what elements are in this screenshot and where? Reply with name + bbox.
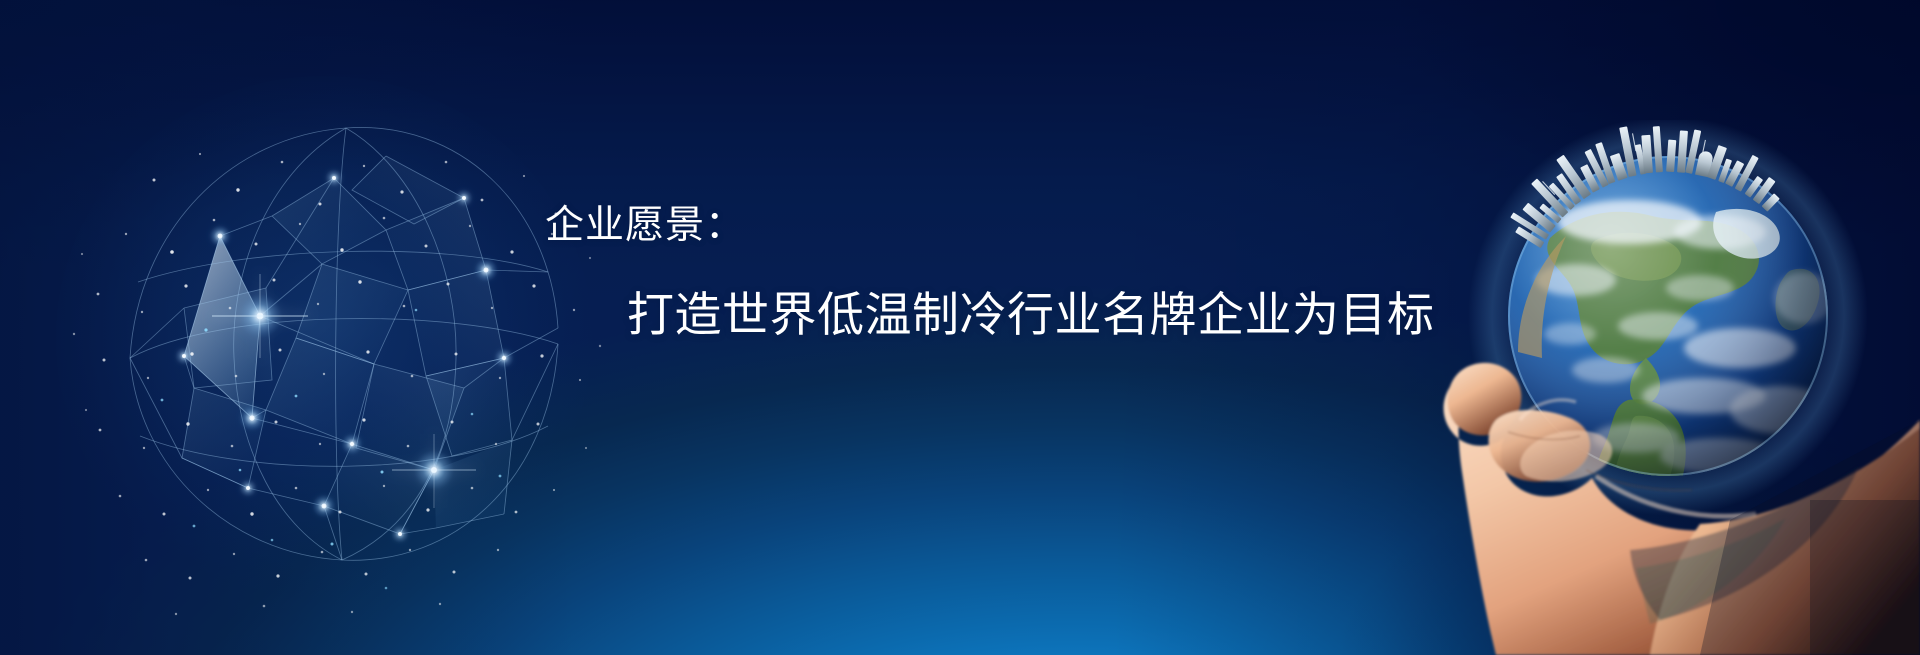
background-corner-vignette xyxy=(0,0,1920,655)
vision-banner: 企业愿景： 打造世界低温制冷行业名牌企业为目标 xyxy=(0,0,1920,655)
